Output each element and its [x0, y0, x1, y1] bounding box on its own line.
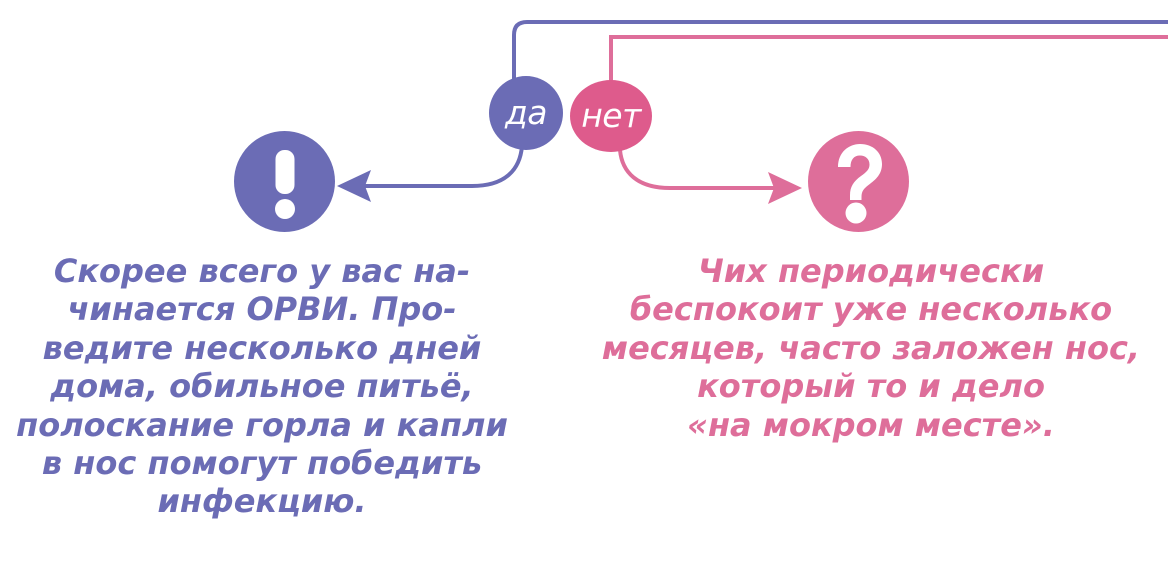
purple-arrow-shaft [362, 146, 522, 186]
pink-arrow-shaft [620, 150, 775, 188]
question-mark-glyph-icon [808, 131, 909, 232]
outcome-text-left: Скорее всего у вас на- чинается ОРВИ. Пр… [0, 252, 524, 521]
decision-bubble-yes[interactable]: да [489, 76, 563, 150]
decision-bubble-no-label: нет [581, 99, 641, 132]
exclamation-dot-icon [275, 199, 295, 219]
decision-bubble-no[interactable]: нет [570, 80, 652, 152]
pink-top-rail-path [611, 37, 1168, 92]
exclamation-bar-icon [275, 150, 294, 194]
decision-bubble-yes-label: да [505, 96, 547, 129]
question-icon [808, 131, 909, 232]
infographic-canvas: да нет Скорее всего у вас на- чинается О… [0, 0, 1168, 581]
outcome-text-right: Чих периодически беспокоит уже несколько… [574, 252, 1168, 444]
exclamation-icon [234, 131, 335, 232]
